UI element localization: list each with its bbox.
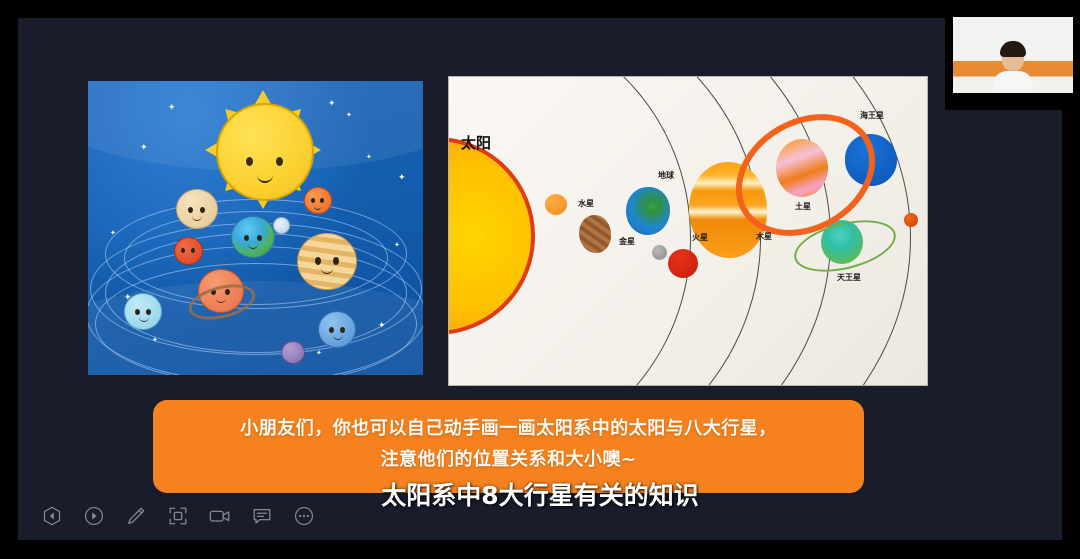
sun-cartoon <box>216 103 314 201</box>
person-body <box>993 71 1033 93</box>
cartoon-solar-system-image: ✦ ✦ ✦ ✦ ✦ ✦ ✦ ✦ ✦ ✦ ✦ ✦ <box>88 81 423 375</box>
planet-small-outer <box>904 213 918 227</box>
player-toolbar <box>38 502 318 530</box>
planet-venus <box>579 215 611 253</box>
moon-cartoon <box>273 217 290 234</box>
label-venus: 金星 <box>616 237 638 246</box>
label-mercury: 水星 <box>575 199 597 208</box>
caption-line-1: 小朋友们，你也可以自己动手画一画太阳系中的太阳与八大行星， <box>153 414 864 440</box>
label-earth: 地球 <box>653 171 679 180</box>
more-icon[interactable] <box>290 502 318 530</box>
planet-cartoon <box>176 189 218 229</box>
planet-cartoon <box>124 293 162 330</box>
chat-icon[interactable] <box>248 502 276 530</box>
hand-drawn-solar-system-image: 太阳 水星 金星 地球 火星 木星 土星 天王星 <box>448 76 928 386</box>
camera-video <box>953 17 1073 93</box>
label-neptune: 海王星 <box>859 111 885 120</box>
fullscreen-icon[interactable] <box>164 502 192 530</box>
person-hair <box>1000 41 1026 57</box>
label-jupiter: 木星 <box>753 232 775 241</box>
planet-cartoon <box>281 341 305 364</box>
moon <box>652 245 667 260</box>
play-next-icon[interactable] <box>80 502 108 530</box>
sun-label: 太阳 <box>461 135 491 152</box>
pencil-icon[interactable] <box>122 502 150 530</box>
planet-earth <box>626 187 670 235</box>
planet-earth-cartoon <box>231 216 275 258</box>
planet-cartoon <box>304 187 332 214</box>
label-uranus: 天王星 <box>837 273 861 282</box>
app-screen: ✦ ✦ ✦ ✦ ✦ ✦ ✦ ✦ ✦ ✦ ✦ ✦ <box>0 0 1080 559</box>
planet-cartoon <box>318 311 356 348</box>
video-icon[interactable] <box>206 502 234 530</box>
previous-icon[interactable] <box>38 502 66 530</box>
planet-jupiter-cartoon <box>297 233 357 290</box>
label-saturn: 土星 <box>792 202 814 211</box>
slide-stage: ✦ ✦ ✦ ✦ ✦ ✦ ✦ ✦ ✦ ✦ ✦ ✦ <box>18 18 1062 540</box>
label-mars: 火星 <box>689 233 711 242</box>
planet-mercury <box>545 194 567 215</box>
planet-mars <box>668 249 698 278</box>
caption-line-2: 注意他们的位置关系和大小噢~ <box>153 445 864 471</box>
teacher-camera-feed[interactable] <box>945 0 1080 110</box>
planet-cartoon <box>174 237 203 265</box>
